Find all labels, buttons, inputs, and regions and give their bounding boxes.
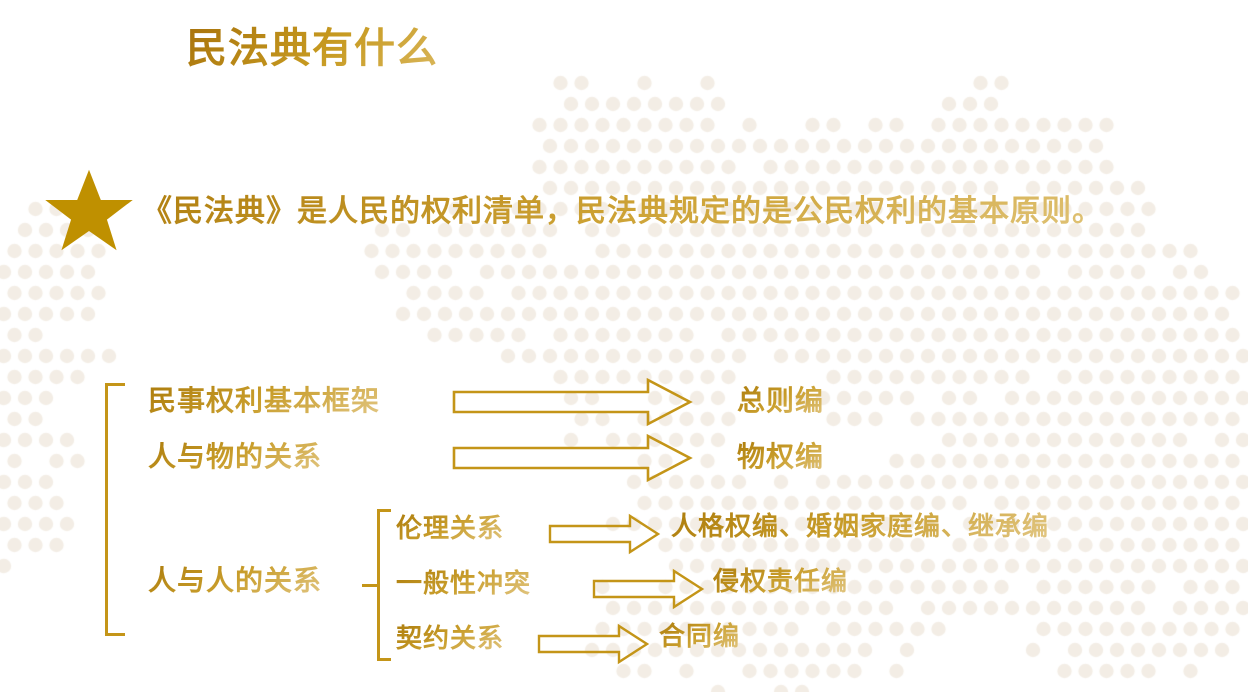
outer-left-bracket: [105, 383, 125, 636]
diagram-target-label: 侵权责任编: [713, 566, 848, 597]
block-arrow-right-icon: [548, 514, 660, 554]
diagram-source-label: 一般性冲突: [396, 568, 531, 599]
inner-left-bracket: [377, 509, 391, 661]
diagram-target-label: 人格权编、婚姻家庭编、继承编: [671, 511, 1049, 542]
slide-canvas: 民法典有什么 《民法典》是人民的权利清单，民法典规定的是公民权利的基本原则。 民…: [0, 0, 1248, 692]
diagram-target-label: 合同编: [659, 621, 740, 652]
block-arrow-right-icon: [452, 378, 692, 426]
diagram-target-label: 物权编: [737, 441, 824, 475]
diagram-group-source-label: 人与人的关系: [148, 565, 322, 599]
star-icon: [45, 168, 133, 252]
diagram-target-label: 总则编: [737, 385, 824, 419]
page-title: 民法典有什么: [186, 24, 438, 73]
block-arrow-right-icon: [537, 624, 649, 664]
subtitle-text: 《民法典》是人民的权利清单，民法典规定的是公民权利的基本原则。: [142, 193, 1103, 231]
diagram-source-label: 伦理关系: [396, 513, 504, 544]
diagram-source-label: 人与物的关系: [148, 441, 322, 475]
block-arrow-right-icon: [452, 434, 692, 482]
block-arrow-right-icon: [592, 569, 704, 609]
diagram-source-label: 民事权利基本框架: [148, 385, 380, 419]
diagram-source-label: 契约关系: [396, 623, 504, 654]
